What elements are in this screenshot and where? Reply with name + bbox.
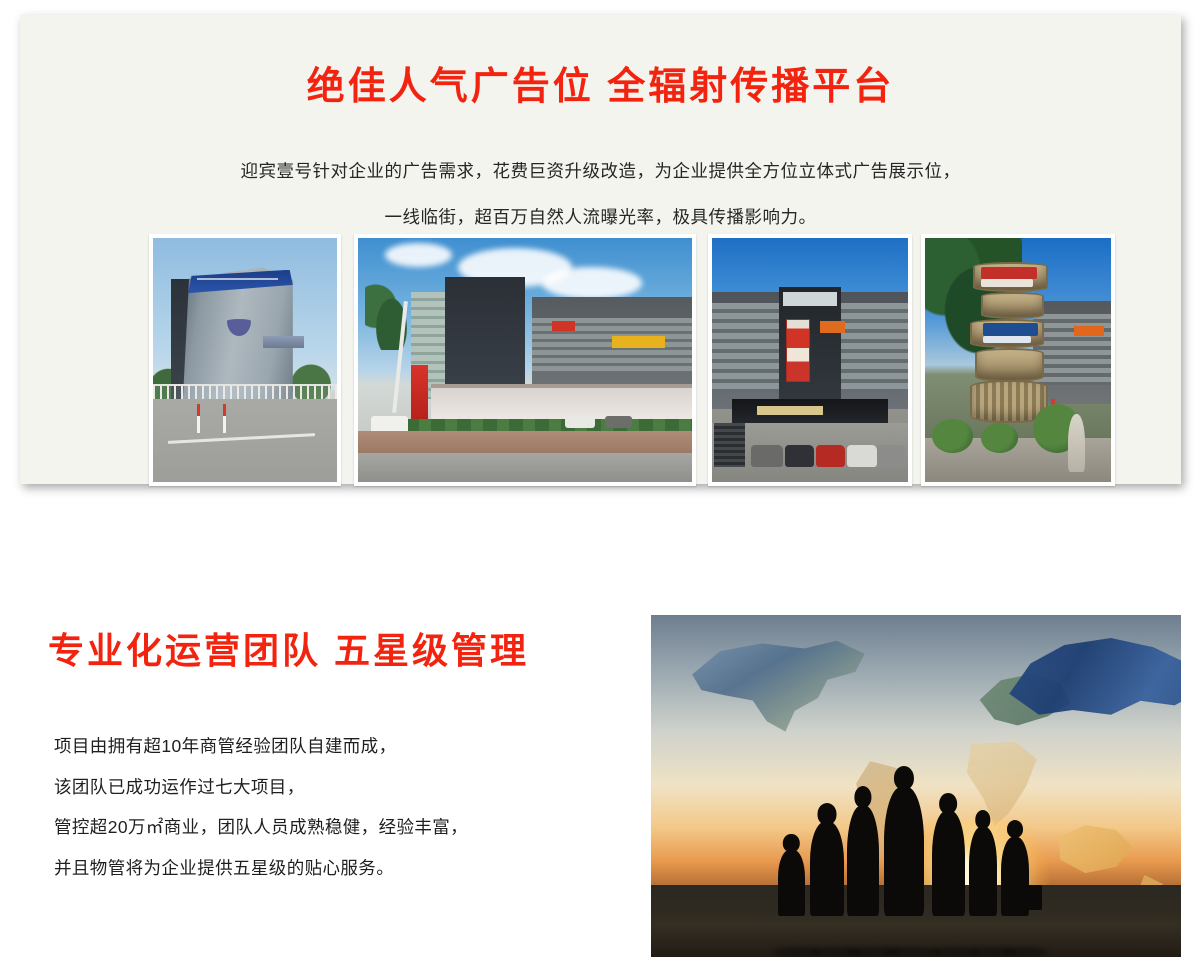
photo-frame-2[interactable]	[354, 234, 696, 486]
world-map-team-silhouette	[651, 615, 1181, 957]
photo-frame-1[interactable]	[149, 234, 341, 486]
section2-body-line-3: 管控超20万㎡商业，团队人员成熟稳健，经验丰富，	[54, 807, 614, 848]
section2-body-line-4: 并且物管将为企业提供五星级的贴心服务。	[54, 848, 614, 889]
photo-frame-4[interactable]	[921, 234, 1115, 486]
section1-paragraph: 迎宾壹号针对企业的广告需求，花费巨资升级改造，为企业提供全方位立体式广告展示位，…	[20, 148, 1181, 241]
photo-gallery	[149, 234, 1109, 486]
advertising-panel: 绝佳人气广告位 全辐射传播平台 迎宾壹号针对企业的广告需求，花费巨资升级改造，为…	[20, 15, 1181, 484]
section1-paragraph-line-1: 迎宾壹号针对企业的广告需求，花费巨资升级改造，为企业提供全方位立体式广告展示位，	[20, 148, 1181, 194]
section2-body: 项目由拥有超10年商管经验团队自建而成， 该团队已成功运作过七大项目， 管控超2…	[54, 726, 614, 888]
poster-page: 绝佳人气广告位 全辐射传播平台 迎宾壹号针对企业的广告需求，花费巨资升级改造，为…	[0, 0, 1200, 972]
section2-title: 专业化运营团队 五星级管理	[48, 622, 529, 674]
photo-building-facade-cars	[712, 238, 908, 482]
photo-frame-3[interactable]	[708, 234, 912, 486]
photo-street-commercial	[358, 238, 692, 482]
section1-title: 绝佳人气广告位 全辐射传播平台	[20, 67, 1181, 109]
team-section: 专业化运营团队 五星级管理 项目由拥有超10年商管经验团队自建而成， 该团队已成…	[0, 600, 1200, 972]
section2-body-line-2: 该团队已成功运作过七大项目，	[54, 767, 614, 808]
photo-tower-blue-signage	[153, 238, 337, 482]
section2-body-line-1: 项目由拥有超10年商管经验团队自建而成，	[54, 726, 614, 767]
photo-signage-tower	[925, 238, 1111, 482]
